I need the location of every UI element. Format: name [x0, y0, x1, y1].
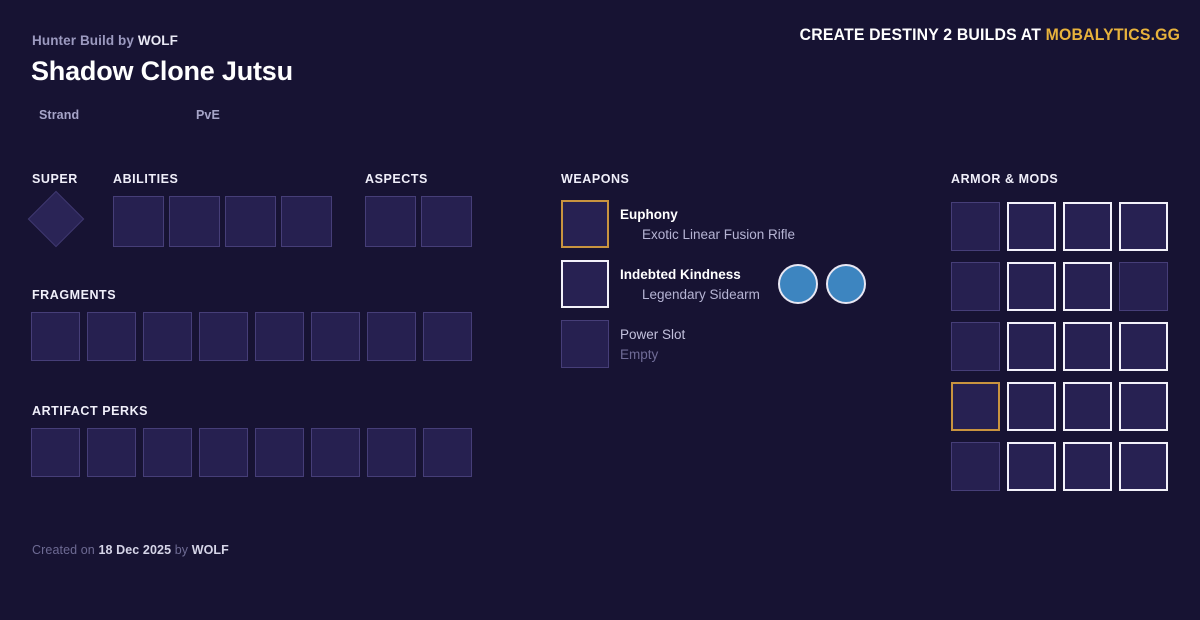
armor-piece-slot[interactable] [951, 322, 1000, 371]
brand-prefix: CREATE DESTINY 2 BUILDS AT [799, 25, 1040, 44]
aspect-slot[interactable] [365, 196, 416, 247]
fragment-slot[interactable] [143, 312, 192, 361]
armor-mod-slot[interactable] [1007, 202, 1056, 251]
footer-middle: by [175, 543, 188, 557]
weapon-name: Power Slot [620, 327, 685, 342]
brand-site: MOBALYTICS.GG [1046, 25, 1180, 44]
weapon-slot[interactable] [561, 260, 609, 308]
fragment-slot[interactable] [367, 312, 416, 361]
aspect-slot[interactable] [421, 196, 472, 247]
byline-author: WOLF [138, 33, 178, 48]
fragment-slot[interactable] [31, 312, 80, 361]
armor-piece-slot[interactable] [951, 202, 1000, 251]
weapon-subtitle: Exotic Linear Fusion Rifle [642, 227, 795, 242]
weapon-subtitle: Empty [620, 347, 658, 362]
section-title-weapons: WEAPONS [561, 172, 629, 186]
armor-mod-slot[interactable] [1063, 202, 1112, 251]
section-title-aspects: ASPECTS [365, 172, 428, 186]
armor-mod-slot[interactable] [1119, 442, 1168, 491]
build-tags: Strand PvE [39, 108, 439, 126]
weapon-perk-icon[interactable] [826, 264, 866, 304]
armor-mod-slot[interactable] [1063, 442, 1112, 491]
ability-slot[interactable] [281, 196, 332, 247]
armor-piece-slot[interactable] [951, 442, 1000, 491]
weapon-slot[interactable] [561, 200, 609, 248]
section-title-artifact-perks: ARTIFACT PERKS [32, 404, 148, 418]
brand-banner: CREATE DESTINY 2 BUILDS AT MOBALYTICS.GG [799, 25, 1180, 45]
artifact-perk-slot[interactable] [423, 428, 472, 477]
armor-piece-slot[interactable] [951, 262, 1000, 311]
fragment-slot[interactable] [311, 312, 360, 361]
fragment-slot[interactable] [87, 312, 136, 361]
tag-element: Strand [39, 108, 79, 122]
armor-mod-slot[interactable] [1119, 202, 1168, 251]
armor-mod-slot[interactable] [1119, 382, 1168, 431]
byline-prefix: Hunter Build by [32, 33, 134, 48]
armor-mod-slot[interactable] [1007, 322, 1056, 371]
section-title-fragments: FRAGMENTS [32, 288, 116, 302]
fragment-slot[interactable] [255, 312, 304, 361]
fragment-slot[interactable] [423, 312, 472, 361]
section-title-armor-mods: ARMOR & MODS [951, 172, 1058, 186]
section-title-abilities: ABILITIES [113, 172, 178, 186]
created-footer: Created on 18 Dec 2025 by WOLF [32, 543, 229, 557]
footer-author: WOLF [192, 543, 229, 557]
super-slot[interactable] [28, 191, 85, 248]
page-title: Shadow Clone Jutsu [31, 56, 293, 87]
tag-mode: PvE [196, 108, 220, 122]
build-byline: Hunter Build by WOLF [32, 33, 178, 48]
artifact-perk-slot[interactable] [367, 428, 416, 477]
armor-mod-slot[interactable] [1007, 442, 1056, 491]
armor-mod-slot[interactable] [1007, 382, 1056, 431]
ability-slot[interactable] [169, 196, 220, 247]
artifact-perk-slot[interactable] [31, 428, 80, 477]
armor-mod-slot[interactable] [1119, 322, 1168, 371]
armor-mod-slot[interactable] [1063, 382, 1112, 431]
build-card: Hunter Build by WOLF Shadow Clone Jutsu … [0, 0, 1200, 620]
ability-slot[interactable] [113, 196, 164, 247]
ability-slot[interactable] [225, 196, 276, 247]
footer-prefix: Created on [32, 543, 95, 557]
weapon-name: Indebted Kindness [620, 267, 741, 282]
armor-piece-slot[interactable] [951, 382, 1000, 431]
footer-date: 18 Dec 2025 [98, 543, 171, 557]
artifact-perk-slot[interactable] [311, 428, 360, 477]
armor-mod-slot[interactable] [1063, 262, 1112, 311]
artifact-perk-slot[interactable] [199, 428, 248, 477]
weapon-subtitle: Legendary Sidearm [642, 287, 760, 302]
armor-mod-slot[interactable] [1119, 262, 1168, 311]
section-title-super: SUPER [32, 172, 78, 186]
weapon-perk-icon[interactable] [778, 264, 818, 304]
weapon-slot[interactable] [561, 320, 609, 368]
armor-mod-slot[interactable] [1063, 322, 1112, 371]
fragment-slot[interactable] [199, 312, 248, 361]
artifact-perk-slot[interactable] [255, 428, 304, 477]
weapon-name: Euphony [620, 207, 678, 222]
artifact-perk-slot[interactable] [143, 428, 192, 477]
armor-mod-slot[interactable] [1007, 262, 1056, 311]
artifact-perk-slot[interactable] [87, 428, 136, 477]
